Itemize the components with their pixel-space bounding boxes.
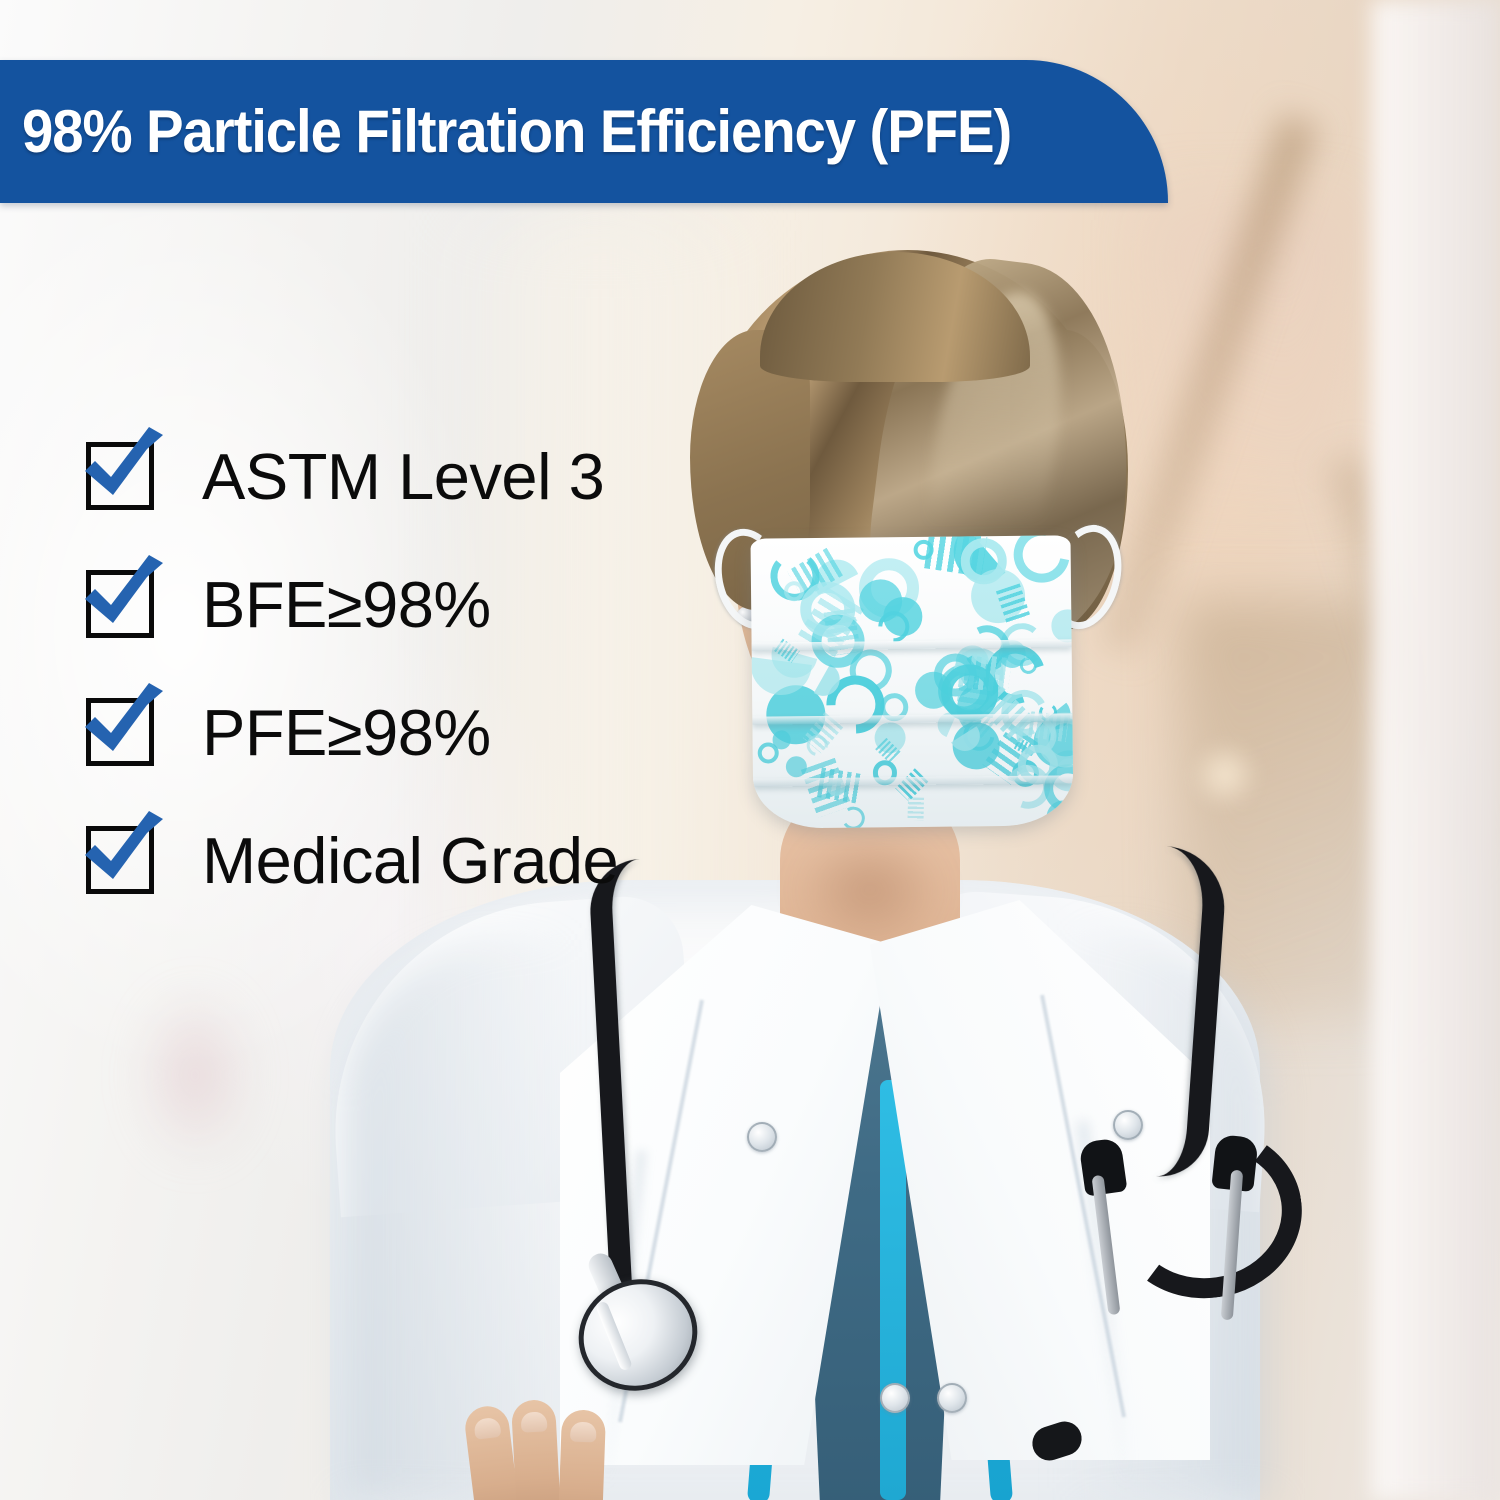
product-feature-image: 98% Particle Filtration Efficiency (PFE)… [0,0,1500,1500]
list-item: Medical Grade [86,804,706,916]
checkbox-checked-icon [86,698,154,766]
hand-fingers [470,1400,640,1500]
checkbox-checked-icon [86,826,154,894]
list-item: BFE≥98% [86,548,706,660]
face-mask [750,535,1073,828]
coat-snap-button [747,1122,777,1152]
checkbox-checked-icon [86,570,154,638]
fingernail [521,1411,548,1432]
list-item-label: PFE≥98% [202,700,491,765]
finger [558,1409,606,1500]
coat-snap-button [880,1383,910,1413]
page-title: 98% Particle Filtration Efficiency (PFE) [22,102,1011,162]
fingernail [570,1422,597,1443]
finger [511,1399,561,1500]
list-item-label: ASTM Level 3 [202,444,604,509]
coat-snap-button [1113,1110,1143,1140]
mask-shading [750,535,1073,828]
checkbox-checked-icon [86,442,154,510]
coat-snap-button [937,1383,967,1413]
list-item-label: Medical Grade [202,828,618,893]
list-item-label: BFE≥98% [202,572,491,637]
headline-banner: 98% Particle Filtration Efficiency (PFE) [0,60,1168,203]
fingernail [473,1417,501,1440]
feature-checklist: ASTM Level 3 BFE≥98% PFE≥98% [86,420,706,868]
list-item: PFE≥98% [86,676,706,788]
list-item: ASTM Level 3 [86,420,706,532]
